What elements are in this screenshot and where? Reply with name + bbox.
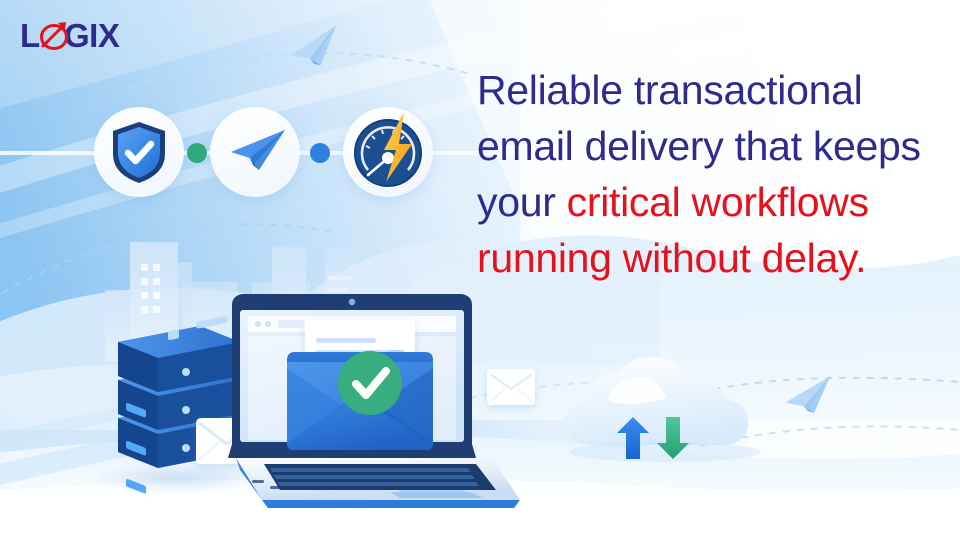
connector-dot-blue [310, 143, 330, 163]
connector-dot-green [187, 143, 207, 163]
feature-icon-shield[interactable] [94, 107, 184, 197]
logo[interactable]: L GIX LOGIX [20, 16, 132, 56]
headline-line-4: running without delay. [477, 230, 947, 286]
headline-navy-1: Reliable transactional [477, 67, 862, 113]
headline-line-1: Reliable transactional [477, 62, 947, 118]
headline-navy-3: your [477, 179, 567, 225]
svg-text:L: L [20, 17, 40, 54]
headline-red-3: critical workflows [567, 179, 869, 225]
green-check-badge-icon [338, 351, 402, 415]
envelope-float-icon [487, 369, 535, 405]
headline-red-4: running without delay. [477, 235, 866, 281]
headline-line-3: your critical workflows [477, 174, 947, 230]
paper-plane-decor-icon [782, 376, 838, 419]
feature-icon-paper-plane[interactable] [210, 107, 300, 197]
paper-plane-decor-icon [286, 26, 345, 73]
logix-logo-icon: L GIX [20, 16, 132, 56]
headline-line-2: email delivery that keeps [477, 118, 947, 174]
svg-text:GIX: GIX [64, 17, 120, 54]
headline-navy-2: email delivery that keeps [477, 123, 921, 169]
headline: Reliable transactional email delivery th… [477, 62, 947, 286]
hero-banner: L GIX LOGIX Reliable transactional email… [0, 0, 960, 540]
feature-icon-speedometer[interactable] [343, 107, 433, 197]
